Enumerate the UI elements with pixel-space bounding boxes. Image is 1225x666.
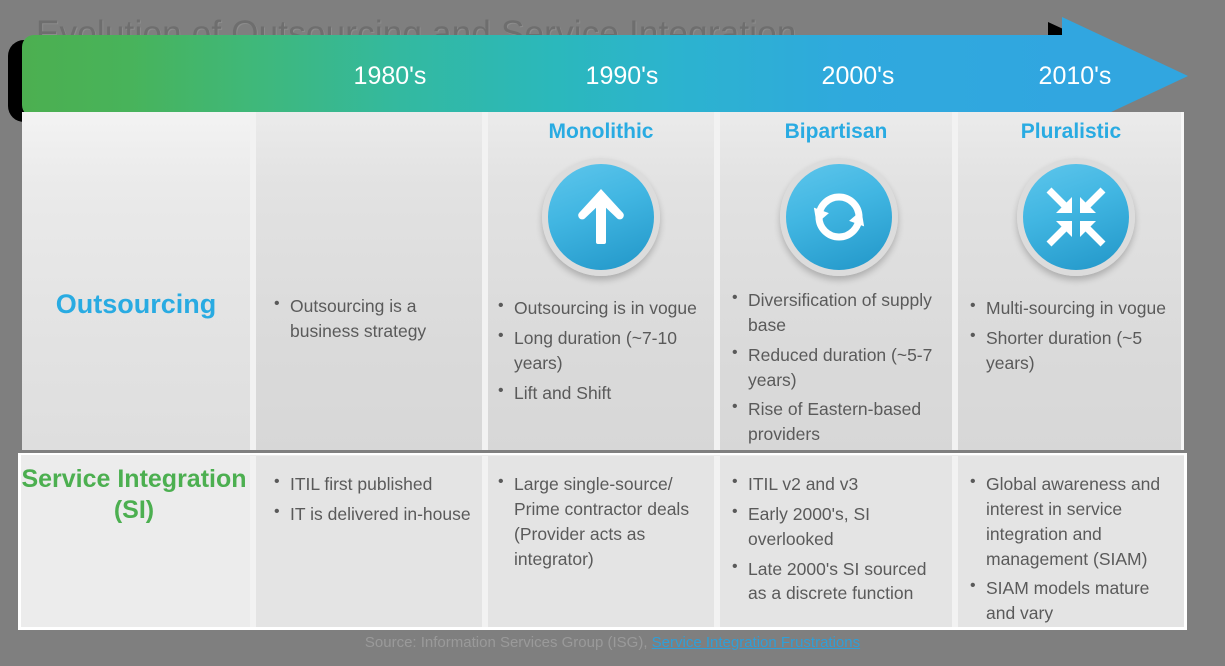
column-divider-1	[250, 112, 256, 450]
bullets-si-1990s: Large single-source/ Prime contractor de…	[496, 472, 710, 576]
era-heading-bipartisan: Bipartisan	[720, 120, 952, 144]
era-label-1980s: 1980's	[274, 62, 506, 91]
up-arrow-icon	[542, 158, 660, 276]
bullets-outsourcing-1990s: Outsourcing is in vogue Long duration (~…	[496, 296, 706, 410]
bullets-si-2010s: Global awareness and interest in service…	[968, 472, 1174, 631]
column-divider-8	[952, 456, 958, 627]
column-divider-3	[714, 112, 720, 450]
converge-arrows-icon	[1017, 158, 1135, 276]
list-item: Reduced duration (~5-7 years)	[730, 343, 948, 393]
list-item: SIAM models mature and vary	[968, 576, 1174, 626]
list-item: Large single-source/ Prime contractor de…	[496, 472, 710, 571]
list-item: Global awareness and interest in service…	[968, 472, 1174, 571]
column-divider-4	[952, 112, 958, 450]
list-item: Shorter duration (~5 years)	[968, 326, 1176, 376]
era-heading-monolithic: Monolithic	[488, 120, 714, 144]
list-item: ITIL first published	[272, 472, 478, 497]
bullets-outsourcing-1980s: Outsourcing is a business strategy	[272, 294, 472, 349]
era-label-1990s: 1990's	[506, 62, 738, 91]
era-label-2010s: 2010's	[978, 62, 1172, 91]
column-divider-2	[482, 112, 488, 450]
column-divider-7	[714, 456, 720, 627]
list-item: Rise of Eastern-based providers	[730, 397, 948, 447]
bullets-si-1980s: ITIL first published IT is delivered in-…	[272, 472, 478, 532]
bullets-outsourcing-2010s: Multi-sourcing in vogue Shorter duration…	[968, 296, 1176, 381]
list-item: Diversification of supply base	[730, 288, 948, 338]
list-item: Long duration (~7-10 years)	[496, 326, 706, 376]
page-title: Evolution of Outsourcing and Service Int…	[36, 14, 797, 54]
row-label-service-integration: Service Integration (SI)	[18, 464, 250, 527]
source-link[interactable]: Service Integration Frustrations	[652, 634, 860, 651]
bullets-si-2000s: ITIL v2 and v3 Early 2000's, SI overlook…	[730, 472, 948, 611]
list-item: Multi-sourcing in vogue	[968, 296, 1176, 321]
refresh-cycle-icon	[780, 158, 898, 276]
list-item: ITIL v2 and v3	[730, 472, 948, 497]
row-label-outsourcing: Outsourcing	[22, 288, 250, 322]
era-label-2000s: 2000's	[738, 62, 978, 91]
era-heading-pluralistic: Pluralistic	[958, 120, 1184, 144]
list-item: Late 2000's SI sourced as a discrete fun…	[730, 557, 948, 607]
source-footer: Source: Information Services Group (ISG)…	[0, 634, 1225, 651]
column-divider-5	[250, 456, 256, 627]
list-item: Outsourcing is in vogue	[496, 296, 706, 321]
source-text: Source: Information Services Group (ISG)…	[365, 634, 652, 651]
list-item: Early 2000's, SI overlooked	[730, 502, 948, 552]
column-divider-6	[482, 456, 488, 627]
bullets-outsourcing-2000s: Diversification of supply base Reduced d…	[730, 288, 948, 452]
list-item: Lift and Shift	[496, 381, 706, 406]
list-item: Outsourcing is a business strategy	[272, 294, 472, 344]
list-item: IT is delivered in-house	[272, 502, 478, 527]
cell-shade-1980s-top	[256, 112, 482, 450]
